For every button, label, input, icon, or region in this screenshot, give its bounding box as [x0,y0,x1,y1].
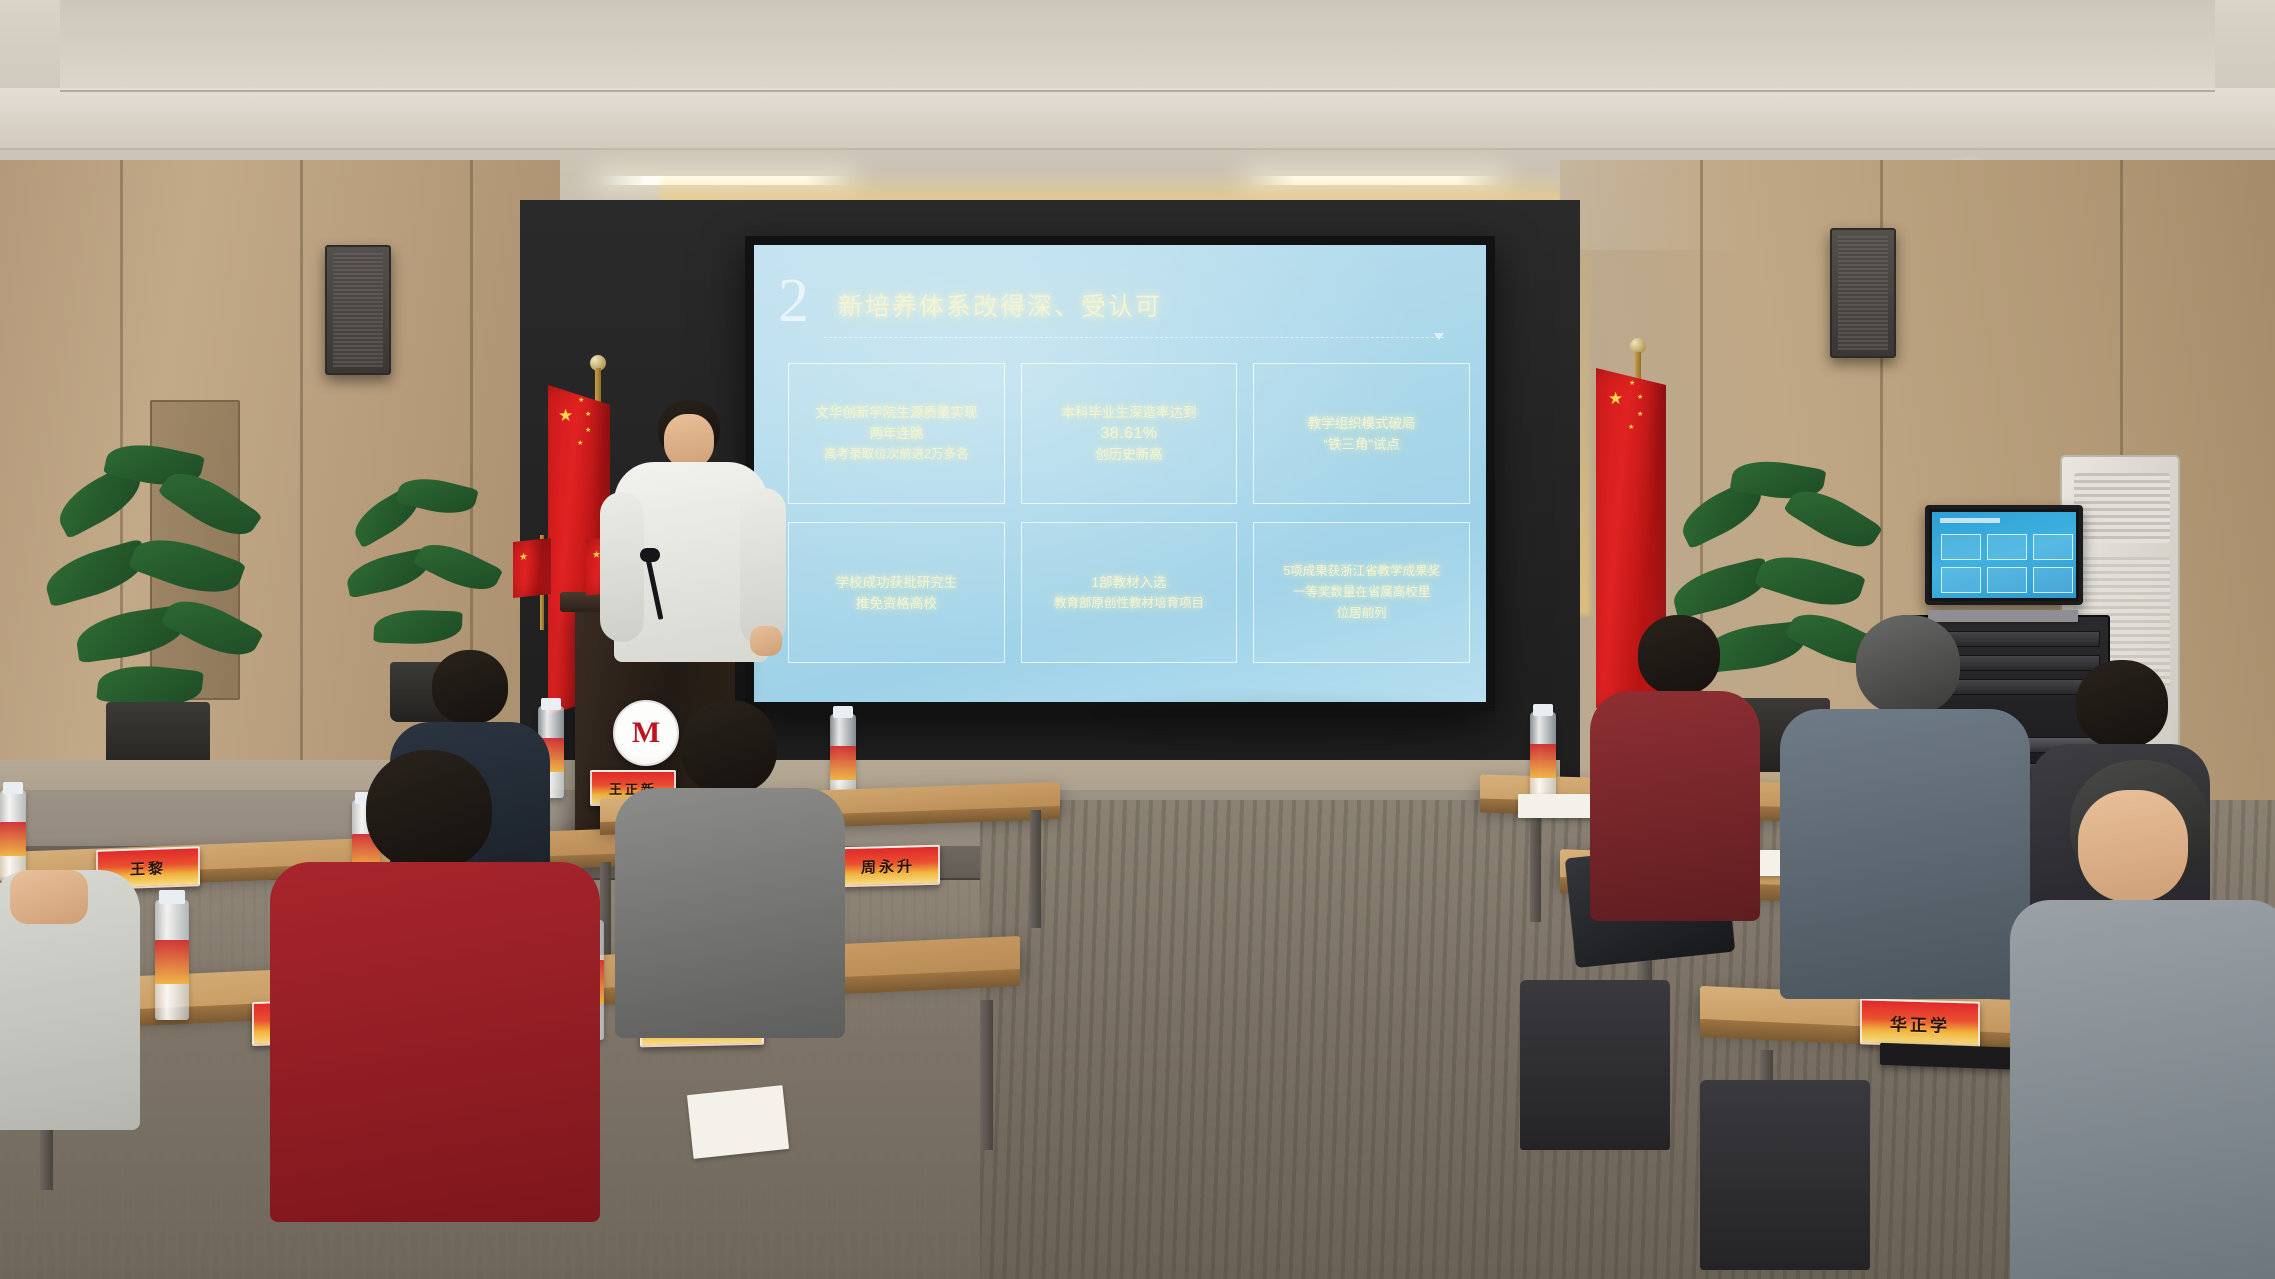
plant-leaf [413,533,503,600]
slide-card: 学校成功获批研究生 推免资格高校 [788,522,1005,663]
card-line: 教学组织模式破局 [1308,413,1416,434]
monitor-card [1987,534,2027,560]
flag-star-icon: ★ [1629,380,1635,387]
slide-card: 5项成果获浙江省教学成果奖 一等奖数量在省属高校里 位居前列 [1253,522,1470,663]
monitor-card [1987,567,2027,593]
chair[interactable] [1520,980,1670,1150]
title-divider-tick-icon [1434,333,1444,340]
monitor-card [2033,534,2073,560]
attendee [1590,615,1760,915]
flag-star-icon: ★ [577,440,583,447]
projection-screen: 2 新培养体系改得深、受认可 文华创新学院生源质量实现 两年连跳 高考录取位次前… [745,236,1495,711]
attendee-head [681,700,777,794]
table-leg [1530,812,1541,922]
attendee-head [2076,660,2168,748]
monitor-card [1941,567,1981,593]
card-line: 5项成果获浙江省教学成果奖 [1283,561,1440,582]
plant-leaf [1669,557,1774,620]
attendee [615,700,845,1030]
slide-content: 2 新培养体系改得深、受认可 文华创新学院生源质量实现 两年连跳 高考录取位次前… [754,245,1486,702]
attendee-torso [1590,691,1760,921]
slide-number: 2 [778,275,809,327]
card-line: 本科毕业生深造率达到 [1061,402,1196,423]
bottle-cap [1533,704,1553,716]
desk-flag-left: ★ [513,538,551,598]
card-line: 高考录取位次前进2万多名 [824,444,968,465]
card-line: 教育部原创性教材培育项目 [1054,593,1204,614]
presenter-arm-left [600,492,644,642]
flag-star-icon: ★ [1608,390,1623,407]
attendee-red-polo [270,862,600,1222]
slide-card: 本科毕业生深造率达到 38.61% 创历史新高 [1021,363,1238,504]
title-divider [824,337,1444,338]
presenter-face [664,414,714,468]
attendee-shirt [2010,900,2275,1279]
flag-star-icon: ★ [585,411,591,418]
placard-name: 周永升 [861,855,915,877]
table-leg [980,1000,993,1150]
presenter-hand [750,626,782,656]
screen-base-shadow [1100,700,1460,740]
slide-card: 1部教材入选 教育部原创性教材培育项目 [1021,522,1238,663]
card-line: 学校成功获批研究生 [836,572,958,593]
card-line: 创历史新高 [1095,444,1163,465]
flag-star-icon: ★ [1637,394,1643,401]
placard-hua-zhengxue: 华正学 [1860,998,1980,1047]
ceiling-edge-line-2 [0,148,2275,150]
attendee-hand [10,870,88,924]
attendee-head [1638,615,1720,695]
card-line-metric: 38.61% [1100,423,1157,444]
card-line: 文华创新学院生源质量实现 [815,402,977,423]
card-line: 推免资格高校 [856,593,937,614]
placard-zhou-yongsheng: 周永升 [836,845,940,888]
plant-leaf [373,608,462,645]
ac-vent [2074,473,2170,543]
bottle-cap [3,782,23,794]
card-line: 一等奖数量在省属高校里 [1293,582,1431,603]
card-line: 1部教材入选 [1091,572,1166,593]
flag-star-icon: ★ [1637,411,1643,418]
flag-star-icon: ★ [585,427,591,434]
attendee [270,750,600,1200]
card-line: 两年连跳 [869,423,923,444]
attendee [0,830,140,1130]
plant-leaf [1754,545,1866,617]
confidence-monitor [1925,505,2083,605]
ceiling-recess [60,0,2215,92]
flag-star-icon: ★ [519,552,528,563]
monitor-screen [1932,512,2076,598]
flag-star-icon: ★ [558,407,573,424]
card-line: “铁三角”试点 [1323,434,1400,455]
placard-name: 华正学 [1890,1010,1950,1037]
cove-light-top [660,170,1560,204]
plant-leaf [160,588,264,668]
attendee-head [432,650,508,724]
monitor-title-bar [1940,518,2000,523]
attendee-shirt [615,788,845,1038]
wall-speaker-right [1830,228,1896,358]
presenter-arm-right [740,488,786,646]
bottle-label [155,940,189,984]
monitor-card [1941,534,1981,560]
presenter [600,400,790,740]
flag-star-icon: ★ [578,397,584,404]
card-line: 位居前列 [1337,603,1387,624]
attendee [2010,760,2275,1279]
slide-title: 新培养体系改得深、受认可 [838,287,1162,323]
ceiling-edge-line [60,90,2215,92]
document-paper[interactable] [687,1085,789,1159]
potted-plant-left [40,440,300,780]
slide-card-grid: 文华创新学院生源质量实现 两年连跳 高考录取位次前进2万多名 本科毕业生深造率达… [788,363,1470,663]
attendee-face [2078,790,2188,902]
wall-speaker-left [325,245,391,375]
attendee-head [1856,615,1960,715]
podium-microphone-head [640,548,660,562]
chair[interactable] [1700,1080,1870,1270]
slide-card: 文华创新学院生源质量实现 两年连跳 高考录取位次前进2万多名 [788,363,1005,504]
attendee [1780,615,2030,985]
monitor-card [2033,567,2073,593]
attendee-torso [1780,709,2030,999]
bottle-label [1530,744,1556,778]
slide-card: 教学组织模式破局 “铁三角”试点 [1253,363,1470,504]
attendee-head [366,750,492,870]
bottle-cap [159,890,185,904]
wall-seam [300,160,303,820]
flag-star-icon: ★ [1628,424,1634,431]
conference-room-scene: 2 新培养体系改得深、受认可 文华创新学院生源质量实现 两年连跳 高考录取位次前… [0,0,2275,1279]
ceiling-recess-inner [0,88,2275,148]
table-leg [1030,810,1041,928]
plant-leaf [128,527,246,606]
